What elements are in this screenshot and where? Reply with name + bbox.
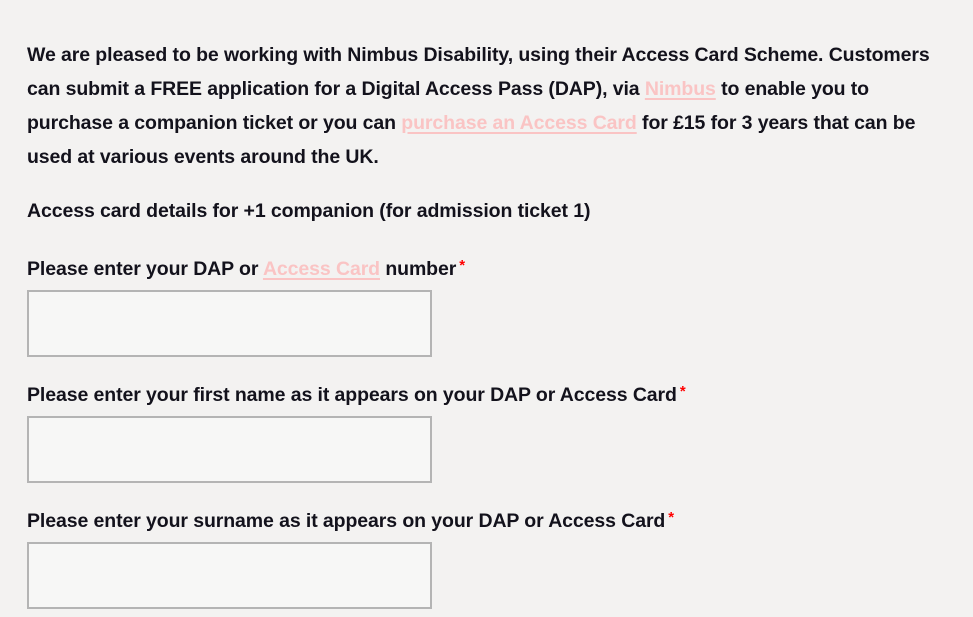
purchase-access-card-link[interactable]: purchase an Access Card [401, 112, 636, 134]
field-surname: Please enter your surname as it appears … [27, 508, 946, 609]
dap-or-access-card-number-input[interactable] [27, 290, 432, 357]
access-card-link[interactable]: Access Card [263, 258, 380, 280]
required-asterisk: * [459, 257, 465, 274]
surname-input[interactable] [27, 542, 432, 609]
field-dap-or-access-card-number: Please enter your DAP or Access Card num… [27, 256, 946, 357]
label-text-part-1: Please enter your surname as it appears … [27, 510, 665, 532]
required-asterisk: * [668, 509, 674, 526]
field-first-name: Please enter your first name as it appea… [27, 382, 946, 483]
access-card-form-page: We are pleased to be working with Nimbus… [0, 0, 973, 617]
label-text-part-1: Please enter your first name as it appea… [27, 384, 677, 406]
first-name-input[interactable] [27, 416, 432, 483]
label-surname: Please enter your surname as it appears … [27, 508, 946, 534]
required-asterisk: * [680, 383, 686, 400]
label-first-name: Please enter your first name as it appea… [27, 382, 946, 408]
nimbus-link[interactable]: Nimbus [645, 78, 716, 100]
intro-paragraph: We are pleased to be working with Nimbus… [27, 0, 946, 174]
label-dap-or-access-card-number: Please enter your DAP or Access Card num… [27, 256, 946, 282]
label-text-part-1: Please enter your DAP or [27, 258, 263, 280]
label-text-part-2: number [380, 258, 456, 280]
section-heading: Access card details for +1 companion (fo… [27, 174, 946, 228]
